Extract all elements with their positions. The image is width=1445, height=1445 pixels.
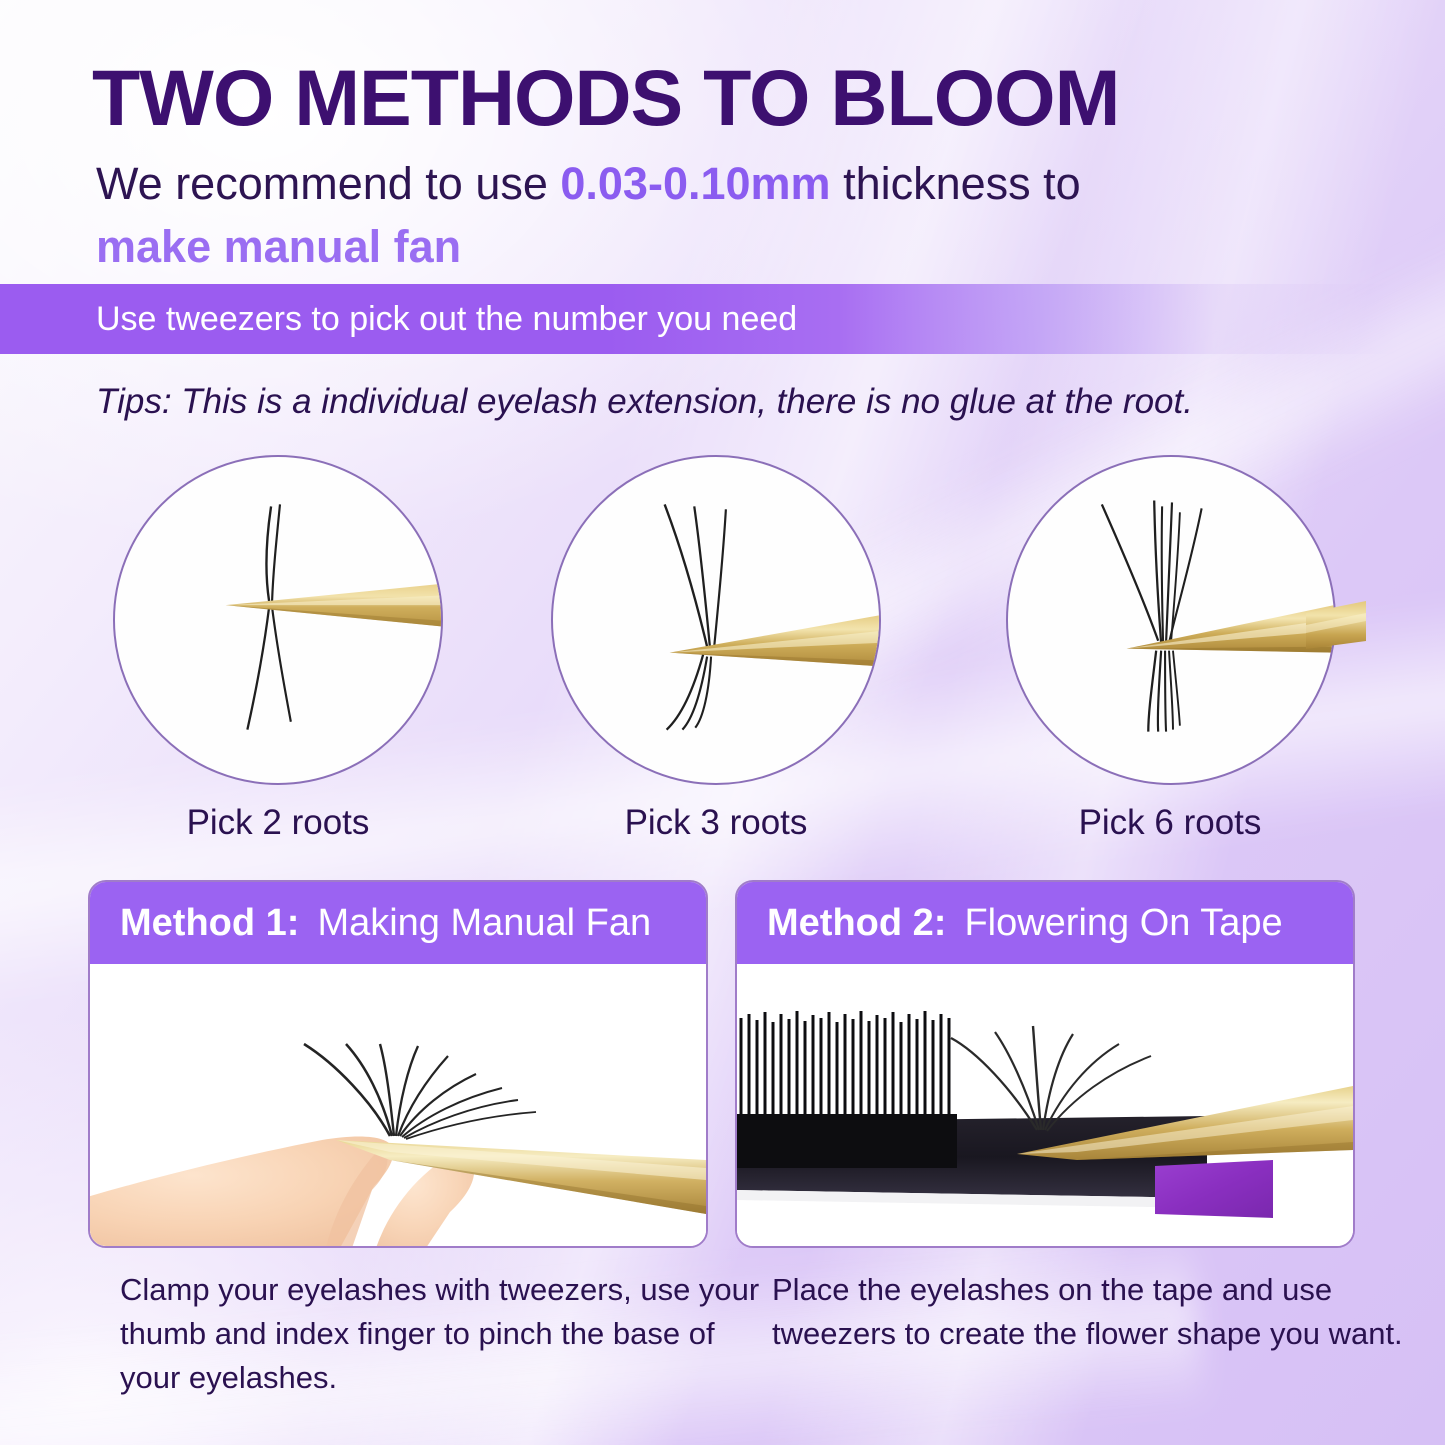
tweezer-lashes-icon (115, 457, 441, 783)
step-caption-1: Pick 2 roots (108, 803, 448, 843)
infographic-page: TWO METHODS TO BLOOM We recommend to use… (0, 0, 1445, 1445)
subtitle-prefix: We recommend to use (96, 158, 560, 209)
circle-frame (551, 455, 881, 785)
instruction-banner-label: Use tweezers to pick out the number you … (96, 300, 797, 339)
subtitle-line2: make manual fan (96, 215, 1256, 278)
method-1-label: Method 1: (120, 902, 299, 945)
page-title: TWO METHODS TO BLOOM (92, 52, 1119, 144)
method-1-header: Method 1: Making Manual Fan (90, 882, 706, 964)
thickness-value: 0.03-0.10mm (560, 158, 830, 209)
method-1-description: Clamp your eyelashes with tweezers, use … (120, 1268, 760, 1400)
tweezer-lashes-icon (553, 457, 879, 783)
method-1-panel: Method 1: Making Manual Fan (88, 880, 708, 1248)
circle-frame (113, 455, 443, 785)
circle-frame (1006, 455, 1336, 785)
method-2-title: Flowering On Tape (964, 902, 1282, 945)
method-2-header: Method 2: Flowering On Tape (737, 882, 1353, 964)
method-2-description: Place the eyelashes on the tape and use … (772, 1268, 1412, 1356)
method-2-panel: Method 2: Flowering On Tape (735, 880, 1355, 1248)
method-2-label: Method 2: (767, 902, 946, 945)
fan-on-tweezer-with-finger-photo (90, 964, 706, 1248)
page-subtitle: We recommend to use 0.03-0.10mm thicknes… (96, 152, 1256, 278)
lash-strip-on-tape-photo (737, 964, 1353, 1248)
step-caption-2: Pick 3 roots (546, 803, 886, 843)
tips-note: Tips: This is a individual eyelash exten… (96, 382, 1193, 422)
step-circle-2 (551, 455, 881, 785)
tweezer-lashes-icon (1008, 457, 1334, 783)
step-circle-1 (113, 455, 443, 785)
method-1-photo (90, 964, 706, 1248)
subtitle-suffix: thickness to (831, 158, 1081, 209)
step-circle-3 (1006, 455, 1336, 785)
method-2-photo (737, 964, 1353, 1248)
step-caption-3: Pick 6 roots (1000, 803, 1340, 843)
method-1-title: Making Manual Fan (317, 902, 651, 945)
